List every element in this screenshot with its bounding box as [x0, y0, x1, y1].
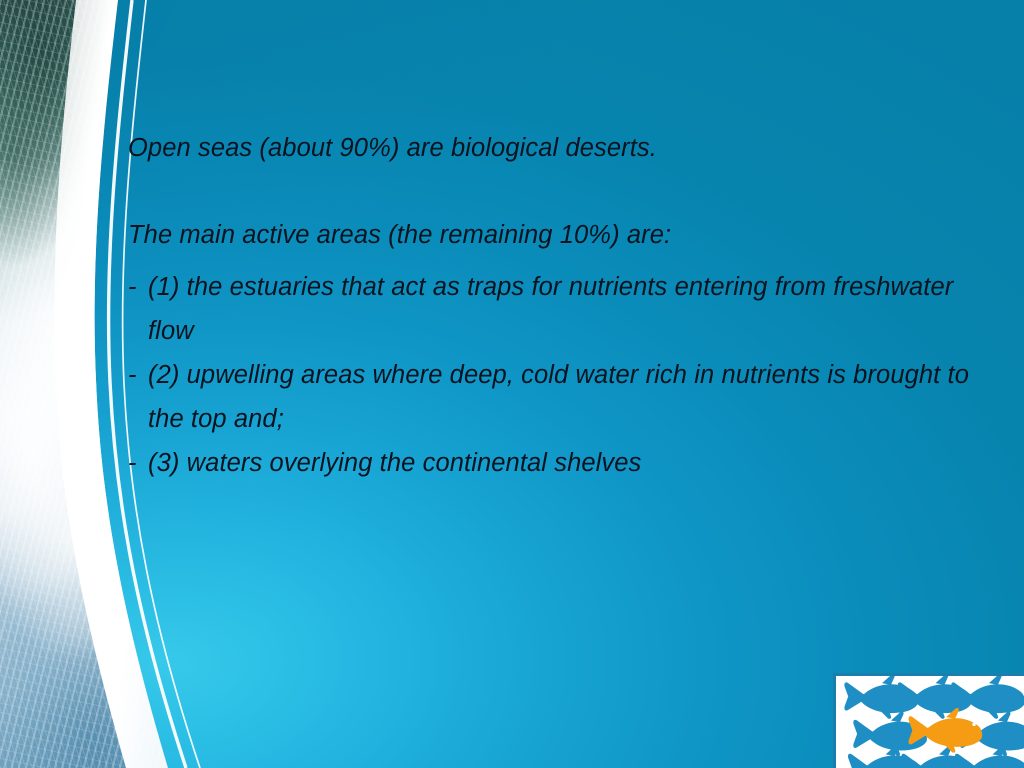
fish-eye: [972, 723, 975, 726]
bullet-text: (2) upwelling areas where deep, cold wat…: [148, 354, 984, 442]
school-of-fish-logo: [833, 673, 1024, 768]
intro-statement: The main active areas (the remaining 10%…: [128, 219, 984, 252]
fish-school-graphic: [836, 676, 1024, 768]
bullet-item-2: - (2) upwelling areas where deep, cold w…: [128, 354, 984, 442]
bullet-text: (1) the estuaries that act as traps for …: [148, 266, 984, 354]
bullet-text: (3) waters overlying the continental she…: [148, 442, 984, 486]
lead-statement: Open seas (about 90%) are biological des…: [128, 132, 984, 165]
bullet-marker: -: [128, 442, 148, 486]
bullet-item-3: - (3) waters overlying the continental s…: [128, 442, 984, 486]
blue-fish-group: [844, 676, 1024, 768]
presentation-slide: Open seas (about 90%) are biological des…: [0, 0, 1024, 768]
slide-text-block: Open seas (about 90%) are biological des…: [128, 132, 984, 486]
bullet-item-1: - (1) the estuaries that act as traps fo…: [128, 266, 984, 354]
bullet-marker: -: [128, 354, 148, 398]
bullet-marker: -: [128, 266, 148, 310]
